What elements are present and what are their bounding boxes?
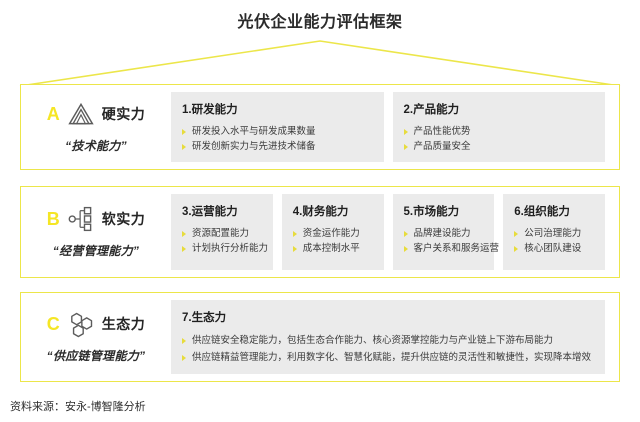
list-item: 供应链精益管理能力，利用数字化、智慧化赋能，提升供应链的灵活性和敏捷性，实现降本… <box>182 350 595 367</box>
card-3[interactable]: 3.运营能力 资源配置能力 计划执行分析能力 <box>171 194 273 270</box>
row-a-name: 硬实力 <box>102 104 146 124</box>
row-a-hard-power: A 硬实力 “技术能力” 1.研发能力 研发投入水平与研发成果数量 研发创新实力… <box>20 84 620 170</box>
card-4-bullets: 资金运作能力 成本控制水平 <box>293 226 374 256</box>
row-b-label: B 软实力 “经营管理能力” <box>21 187 171 277</box>
org-hierarchy-icon <box>67 205 95 233</box>
row-c-cards: 7.生态力 供应链安全稳定能力，包括生态合作能力、核心资源掌控能力与产业链上下游… <box>171 293 619 381</box>
row-b-label-line: B 软实力 <box>47 205 146 233</box>
row-c-name: 生态力 <box>102 314 146 334</box>
row-a-label: A 硬实力 “技术能力” <box>21 85 171 169</box>
row-a-label-line: A 硬实力 <box>47 100 146 128</box>
card-7[interactable]: 7.生态力 供应链安全稳定能力，包括生态合作能力、核心资源掌控能力与产业链上下游… <box>171 300 605 374</box>
hexagon-cluster-icon <box>67 310 95 338</box>
house-roof-icon <box>0 36 640 88</box>
card-7-title: 7.生态力 <box>182 309 595 325</box>
list-item: 产品性能优势 <box>404 124 596 139</box>
list-item: 资源配置能力 <box>182 226 263 241</box>
row-b-letter: B <box>47 210 60 228</box>
list-item: 产品质量安全 <box>404 139 596 154</box>
infographic-page: 光伏企业能力评估框架 A 硬实力 “技术能力” 1.研发能力 研发投入水平与研发… <box>0 0 640 422</box>
card-6[interactable]: 6.组织能力 公司治理能力 核心团队建设 <box>503 194 605 270</box>
card-6-bullets: 公司治理能力 核心团队建设 <box>514 226 595 256</box>
card-2[interactable]: 2.产品能力 产品性能优势 产品质量安全 <box>393 92 606 162</box>
page-title: 光伏企业能力评估框架 <box>0 8 640 32</box>
row-b-subtitle: “经营管理能力” <box>53 242 139 259</box>
card-5[interactable]: 5.市场能力 品牌建设能力 客户关系和服务运营 <box>393 194 495 270</box>
row-a-subtitle: “技术能力” <box>65 137 127 154</box>
card-5-bullets: 品牌建设能力 客户关系和服务运营 <box>404 226 485 256</box>
list-item: 核心团队建设 <box>514 241 595 256</box>
list-item: 供应链安全稳定能力，包括生态合作能力、核心资源掌控能力与产业链上下游布局能力 <box>182 333 595 350</box>
list-item: 客户关系和服务运营 <box>404 241 485 256</box>
row-c-subtitle: “供应链管理能力” <box>47 347 146 364</box>
row-b-name: 软实力 <box>102 209 146 229</box>
row-b-soft-power: B 软实力 “经营管理能力” 3.运营能力 资源配置能力 <box>20 186 620 278</box>
row-c-ecosystem-power: C 生态力 “供应链管理能力” 7.生态力 供应链安全稳定能力，包括生态合作能力… <box>20 292 620 382</box>
nested-triangle-icon <box>67 100 95 128</box>
source-note: 资料来源：安永-博智隆分析 <box>10 398 146 414</box>
list-item: 公司治理能力 <box>514 226 595 241</box>
card-4[interactable]: 4.财务能力 资金运作能力 成本控制水平 <box>282 194 384 270</box>
card-2-title: 2.产品能力 <box>404 101 596 117</box>
card-4-title: 4.财务能力 <box>293 203 374 219</box>
list-item: 品牌建设能力 <box>404 226 485 241</box>
card-3-title: 3.运营能力 <box>182 203 263 219</box>
list-item: 研发投入水平与研发成果数量 <box>182 124 374 139</box>
card-7-bullets: 供应链安全稳定能力，包括生态合作能力、核心资源掌控能力与产业链上下游布局能力 供… <box>182 333 595 366</box>
row-c-letter: C <box>47 315 60 333</box>
card-2-bullets: 产品性能优势 产品质量安全 <box>404 124 596 154</box>
list-item: 研发创新实力与先进技术储备 <box>182 139 374 154</box>
card-1[interactable]: 1.研发能力 研发投入水平与研发成果数量 研发创新实力与先进技术储备 <box>171 92 384 162</box>
row-c-label-line: C 生态力 <box>47 310 146 338</box>
card-5-title: 5.市场能力 <box>404 203 485 219</box>
row-a-cards: 1.研发能力 研发投入水平与研发成果数量 研发创新实力与先进技术储备 2.产品能… <box>171 85 619 169</box>
row-b-cards: 3.运营能力 资源配置能力 计划执行分析能力 4.财务能力 资金运作能力 成本控… <box>171 187 619 277</box>
list-item: 成本控制水平 <box>293 241 374 256</box>
list-item: 计划执行分析能力 <box>182 241 263 256</box>
row-a-letter: A <box>47 105 60 123</box>
card-1-title: 1.研发能力 <box>182 101 374 117</box>
card-3-bullets: 资源配置能力 计划执行分析能力 <box>182 226 263 256</box>
card-1-bullets: 研发投入水平与研发成果数量 研发创新实力与先进技术储备 <box>182 124 374 154</box>
list-item: 资金运作能力 <box>293 226 374 241</box>
card-6-title: 6.组织能力 <box>514 203 595 219</box>
row-c-label: C 生态力 “供应链管理能力” <box>21 293 171 381</box>
